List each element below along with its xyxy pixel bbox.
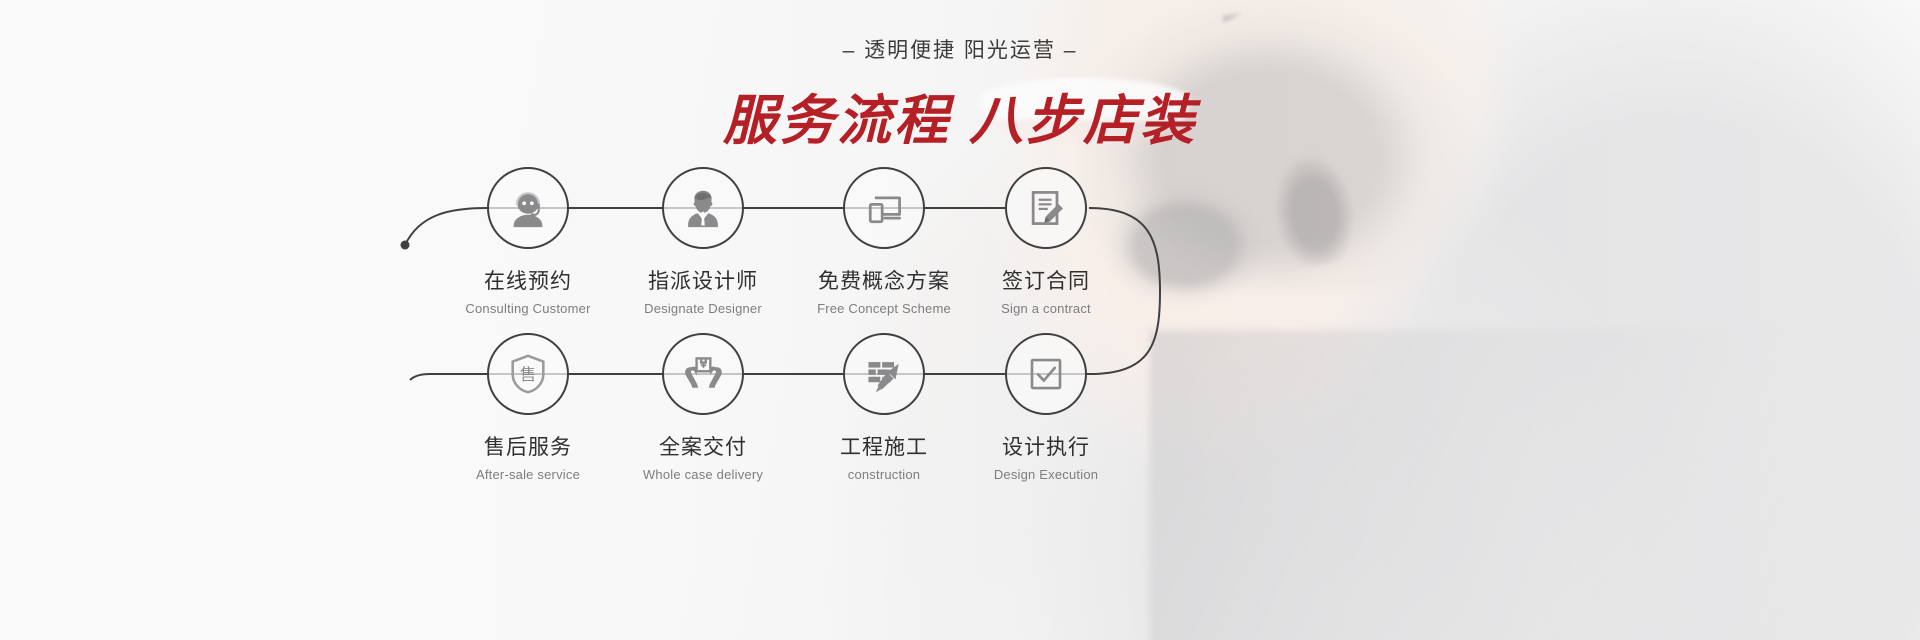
flow-step-6-label-en: construction — [794, 467, 974, 482]
flow-step-2-label-en: Designate Designer — [613, 301, 793, 316]
flow-step-2-label-cn: 指派设计师 — [613, 265, 793, 295]
flow-step-4-label-en: Sign a contract — [956, 301, 1136, 316]
banner-subtitle: – 透明便捷 阳光运营 – — [0, 34, 1920, 64]
headset-agent-icon — [505, 185, 551, 231]
flow-step-5[interactable]: 设计执行 Design Execution — [956, 333, 1136, 482]
flow-step-2-circle[interactable] — [662, 167, 744, 249]
service-process-banner: – 透明便捷 阳光运营 – 服务流程 八步店装 — [0, 0, 1920, 640]
flow-step-8-circle[interactable]: 售 — [487, 333, 569, 415]
shield-shou-icon: 售 — [505, 351, 551, 397]
flow-step-8[interactable]: 售 售后服务 After-sale service — [438, 333, 618, 482]
flow-step-4-circle[interactable] — [1005, 167, 1087, 249]
flow-step-4-label-cn: 签订合同 — [956, 265, 1136, 295]
flow-step-1-circle[interactable] — [487, 167, 569, 249]
flow-step-2[interactable]: 指派设计师 Designate Designer — [613, 167, 793, 316]
flow-step-3-circle[interactable] — [843, 167, 925, 249]
flow-step-7-circle[interactable] — [662, 333, 744, 415]
flow-step-8-label-en: After-sale service — [438, 467, 618, 482]
flow-step-6-label-cn: 工程施工 — [794, 431, 974, 461]
flow-step-4[interactable]: 签订合同 Sign a contract — [956, 167, 1136, 316]
devices-icon — [862, 186, 906, 230]
flow-step-6-circle[interactable] — [843, 333, 925, 415]
businessman-icon — [680, 185, 726, 231]
flow-step-1[interactable]: 在线预约 Consulting Customer — [438, 167, 618, 316]
flow-step-5-label-cn: 设计执行 — [956, 431, 1136, 461]
banner-heading: – 透明便捷 阳光运营 – 服务流程 八步店装 — [0, 34, 1920, 155]
document-pencil-icon — [1024, 186, 1068, 230]
flow-step-3[interactable]: 免费概念方案 Free Concept Scheme — [794, 167, 974, 316]
flow-step-6[interactable]: 工程施工 construction — [794, 333, 974, 482]
brickwall-trowel-icon — [862, 352, 906, 396]
flow-step-3-label-cn: 免费概念方案 — [794, 265, 974, 295]
hands-package-icon — [681, 352, 725, 396]
flow-step-1-label-cn: 在线预约 — [438, 265, 618, 295]
flow-step-7[interactable]: 全案交付 Whole case delivery — [613, 333, 793, 482]
banner-title: 服务流程 八步店装 — [0, 76, 1920, 155]
flow-step-8-label-cn: 售后服务 — [438, 431, 618, 461]
flow-step-3-label-en: Free Concept Scheme — [794, 301, 974, 316]
flow-step-7-label-en: Whole case delivery — [613, 467, 793, 482]
flow-step-5-circle[interactable] — [1005, 333, 1087, 415]
flow-step-7-label-cn: 全案交付 — [613, 431, 793, 461]
checkbox-square-icon — [1025, 353, 1067, 395]
shield-character: 售 — [520, 366, 536, 384]
flow-step-1-label-en: Consulting Customer — [438, 301, 618, 316]
flow-step-5-label-en: Design Execution — [956, 467, 1136, 482]
